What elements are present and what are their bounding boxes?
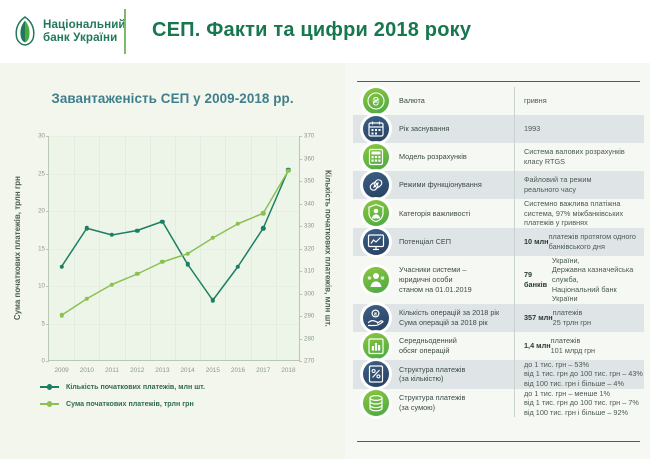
x-axis-tick-label: 2017	[256, 367, 270, 374]
facts-table: ₴ВалютагривняРік заснування1993Модель ро…	[353, 87, 644, 417]
y-axis-right-tick-label: 300	[304, 290, 314, 297]
x-axis-tick-label: 2014	[180, 367, 194, 374]
facts-row: Модель розрахунківСистема валових розрах…	[353, 143, 644, 171]
chart-title: Завантаженість СЕП у 2009-2018 рр.	[0, 91, 345, 106]
legend-item-count: Кількість початкових платежів, млн шт.	[40, 383, 205, 391]
logo-text: Національний банк України	[43, 18, 126, 45]
legend-marker-line-icon	[40, 400, 59, 408]
facts-row-value: 1993	[514, 115, 644, 143]
facts-row-label: Потенціал СЕП	[399, 228, 514, 256]
coins-stack-icon	[363, 390, 389, 416]
chart-plot-area: 0510152025302702802903003103203303403503…	[48, 136, 300, 361]
y-axis-left-tick	[46, 361, 49, 362]
facts-row-icon-cell	[353, 360, 399, 389]
x-axis-tick-label: 2012	[130, 367, 144, 374]
legend-label-sum: Сума початкових платежів, трлн грн	[66, 400, 194, 408]
facts-row-icon-cell	[353, 143, 399, 171]
facts-row: Структура платежів (за сумою)до 1 тис. г…	[353, 389, 644, 418]
y-axis-right-tick-label: 350	[304, 178, 314, 185]
y-axis-right-tick-label: 370	[304, 133, 314, 140]
facts-row-icon-cell	[353, 171, 399, 199]
facts-row-icon-cell: ₴	[353, 304, 399, 332]
chart-series-lines	[49, 136, 301, 361]
facts-row-value: 357 млн платежів 25 трлн грн	[514, 304, 644, 332]
y-axis-left-title: Сума початкових платежів, трлн грн	[11, 136, 23, 361]
facts-row-icon-cell	[353, 332, 399, 360]
x-axis-tick-label: 2018	[281, 367, 295, 374]
y-axis-right-title: Кількість початкових платежів, млн шт.	[322, 136, 334, 361]
facts-row-value: до 1 тис. грн – 53% від 1 тис. грн до 10…	[514, 360, 644, 389]
y-axis-right-tick-label: 360	[304, 155, 314, 162]
facts-row-value: 10 млн платежів протягом одного банківсь…	[514, 228, 644, 256]
chart-monitor-icon	[363, 229, 389, 255]
facts-row-icon-cell	[353, 115, 399, 143]
chart-pane: Завантаженість СЕП у 2009-2018 рр. Сума …	[0, 63, 345, 459]
y-axis-left-tick-label: 30	[38, 133, 45, 140]
facts-top-rule	[357, 81, 640, 82]
y-axis-right-tick-label: 310	[304, 268, 314, 275]
calculator-icon	[363, 144, 389, 170]
bar-chart-icon	[363, 333, 389, 359]
y-axis-right-tick-label: 280	[304, 335, 314, 342]
infographic-page: Національний банк України СЕП. Факти та …	[0, 0, 650, 459]
facts-row: Структура платежів (за кількістю)до 1 ти…	[353, 360, 644, 389]
facts-row: Рік заснування1993	[353, 115, 644, 143]
y-axis-left-tick-label: 20	[38, 208, 45, 215]
facts-bottom-rule	[357, 441, 640, 442]
logo-line-1: Національний	[43, 18, 126, 31]
facts-row: Потенціал СЕП10 млн платежів протягом од…	[353, 228, 644, 256]
shield-person-icon	[363, 200, 389, 226]
y-axis-left-tick-label: 10	[38, 283, 45, 290]
y-axis-left-tick-label: 0	[42, 358, 45, 365]
x-axis-tick-label: 2016	[231, 367, 245, 374]
facts-row-value: гривня	[514, 87, 644, 115]
facts-row-icon-cell	[353, 199, 399, 228]
facts-row: Режими функціонуванняФайловий та режим р…	[353, 171, 644, 199]
x-axis-tick-label: 2013	[155, 367, 169, 374]
legend-item-sum: Сума початкових платежів, трлн грн	[40, 400, 205, 408]
y-axis-right-tick-label: 340	[304, 200, 314, 207]
facts-row-label: Кількість операцій за 2018 рік Сума опер…	[399, 304, 514, 332]
facts-row: Учасники системи – юридичні особи станом…	[353, 256, 644, 304]
x-axis-tick-label: 2011	[105, 367, 119, 374]
facts-row-value: Системно важлива платіжна система, 97% м…	[514, 199, 644, 228]
facts-row-value: Система валових розрахунків класу RTGS	[514, 143, 644, 171]
nbu-logo: Національний банк України	[14, 16, 126, 46]
svg-text:₴: ₴	[373, 95, 380, 109]
header-divider	[124, 9, 126, 54]
document-percent-icon	[363, 361, 389, 387]
y-axis-right-tick-label: 320	[304, 245, 314, 252]
currency-hryvnia-icon: ₴	[363, 88, 389, 114]
facts-row-value: до 1 тис. грн – менше 1% від 1 тис. грн …	[514, 389, 644, 418]
y-axis-left-tick-label: 25	[38, 170, 45, 177]
facts-row-label: Режими функціонування	[399, 171, 514, 199]
page-header: Національний банк України СЕП. Факти та …	[0, 0, 650, 63]
facts-row-label: Учасники системи – юридичні особи станом…	[399, 256, 514, 304]
logo-line-2: банк України	[43, 31, 117, 44]
chart-legend: Кількість початкових платежів, млн шт. С…	[40, 383, 205, 417]
svg-text:₴: ₴	[374, 312, 377, 318]
y-axis-right-tick	[299, 361, 302, 362]
link-chain-icon	[363, 172, 389, 198]
facts-row-icon-cell	[353, 256, 399, 304]
facts-row-icon-cell	[353, 228, 399, 256]
calendar-icon	[363, 116, 389, 142]
y-axis-left-tick-label: 5	[42, 320, 45, 327]
facts-row: ₴Валютагривня	[353, 87, 644, 115]
facts-row-value: 79 банків України, Державна казначейська…	[514, 256, 644, 304]
facts-row-icon-cell	[353, 389, 399, 418]
facts-row-icon-cell: ₴	[353, 87, 399, 115]
facts-row-label: Категорія важливості	[399, 199, 514, 228]
page-title: СЕП. Факти та цифри 2018 року	[152, 19, 471, 42]
y-axis-right-tick-label: 290	[304, 313, 314, 320]
facts-row: ₴Кількість операцій за 2018 рік Сума опе…	[353, 304, 644, 332]
legend-marker-line-icon	[40, 383, 59, 391]
facts-row-value: Файловий та режим реального часу	[514, 171, 644, 199]
facts-row-label: Модель розрахунків	[399, 143, 514, 171]
participants-icon	[363, 267, 389, 293]
facts-row-label: Структура платежів (за сумою)	[399, 389, 514, 418]
facts-row-label: Валюта	[399, 87, 514, 115]
y-axis-right-tick-label: 270	[304, 358, 314, 365]
facts-row-label: Структура платежів (за кількістю)	[399, 360, 514, 389]
facts-row-label: Середньоденний обсяг операцій	[399, 332, 514, 360]
facts-row-label: Рік заснування	[399, 115, 514, 143]
legend-label-count: Кількість початкових платежів, млн шт.	[66, 383, 205, 391]
x-axis-tick-label: 2015	[206, 367, 220, 374]
x-axis-tick-label: 2010	[80, 367, 94, 374]
x-axis-tick-label: 2009	[54, 367, 68, 374]
chart-line-series-0	[62, 170, 289, 301]
facts-row: Середньоденний обсяг операцій1,4 млн пла…	[353, 332, 644, 360]
hand-coins-icon: ₴	[363, 305, 389, 331]
facts-row-value: 1,4 млн платежів 101 млрд грн	[514, 332, 644, 360]
nbu-leaf-logo-icon	[14, 16, 36, 46]
y-axis-right-tick-label: 330	[304, 223, 314, 230]
facts-row: Категорія важливостіСистемно важлива пла…	[353, 199, 644, 228]
y-axis-left-tick-label: 15	[38, 245, 45, 252]
